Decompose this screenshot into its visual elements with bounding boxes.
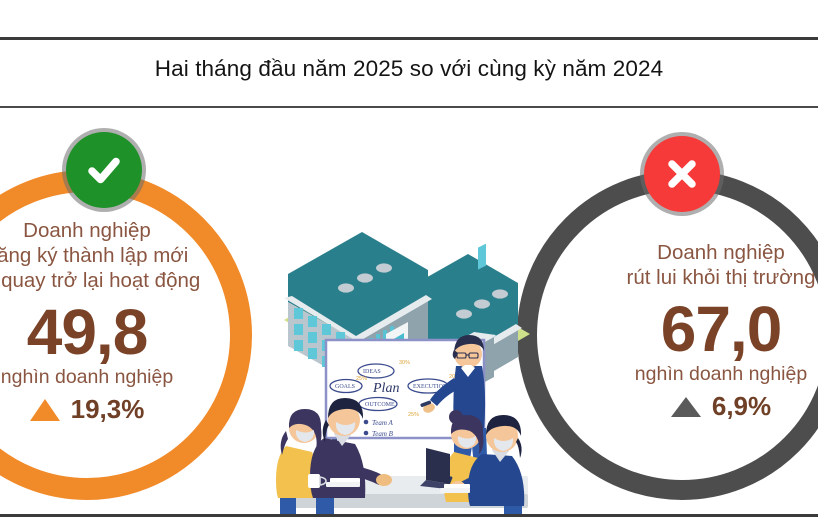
right-label-line2: rút lui khỏi thị trường [556, 265, 818, 290]
up-triangle-icon [671, 397, 701, 417]
infographic-page: Hai tháng đầu năm 2025 so với cùng kỳ nă… [0, 0, 818, 526]
svg-text:25%: 25% [408, 412, 419, 418]
left-delta: 19,3% [0, 394, 262, 425]
svg-text:Team B: Team B [372, 430, 394, 438]
left-label-line1: Doanh nghiệp [0, 218, 262, 243]
divider-below-title [0, 106, 818, 108]
right-label-line1: Doanh nghiệp [556, 240, 818, 265]
check-circle-icon [66, 132, 142, 208]
right-delta: 6,9% [556, 391, 818, 422]
left-delta-value: 19,3% [71, 394, 145, 425]
svg-text:Team A: Team A [372, 419, 394, 427]
right-unit: nghìn doanh nghiệp [556, 362, 818, 386]
center-illustration: IDEAS GOALS EXECUTION OUTCOME 30% 25% 20… [268, 128, 550, 514]
divider-top [0, 37, 818, 40]
svg-text:25%: 25% [356, 376, 367, 382]
whiteboard-title: Plan [372, 381, 399, 396]
left-unit: nghìn doanh nghiệp [0, 365, 262, 389]
divider-bottom [0, 514, 818, 517]
right-delta-value: 6,9% [712, 391, 771, 422]
right-value: 67,0 [556, 292, 818, 366]
svg-text:GOALS: GOALS [335, 384, 355, 390]
svg-text:30%: 30% [399, 360, 410, 366]
left-stat-block: Doanh nghiệp đăng ký thành lập mới và qu… [0, 218, 262, 425]
right-stat-block: Doanh nghiệp rút lui khỏi thị trường 67,… [556, 240, 818, 422]
left-label-line3: và quay trở lại hoạt động [0, 268, 262, 293]
svg-text:OUTCOME: OUTCOME [365, 402, 395, 408]
svg-text:IDEAS: IDEAS [363, 369, 381, 375]
page-title: Hai tháng đầu năm 2025 so với cùng kỳ nă… [0, 56, 818, 82]
up-triangle-icon [30, 399, 60, 421]
left-value: 49,8 [0, 295, 262, 369]
left-label-line2: đăng ký thành lập mới [0, 243, 262, 268]
x-circle-icon [644, 136, 720, 212]
